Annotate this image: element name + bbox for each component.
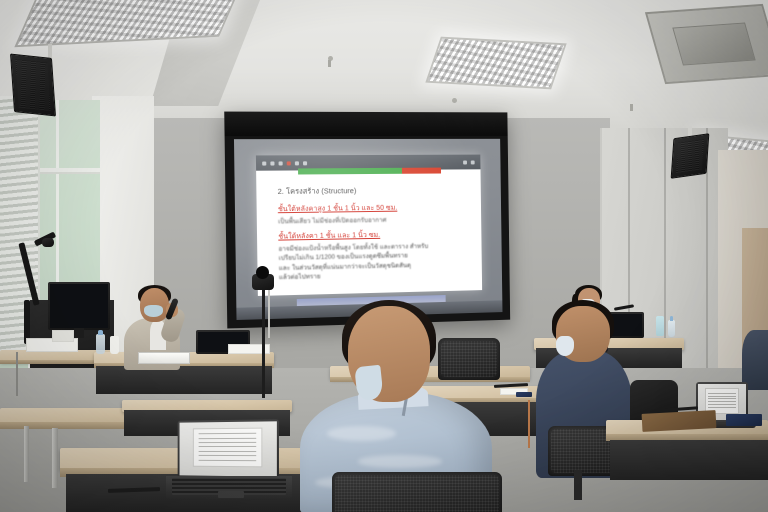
equipment-box	[52, 330, 74, 342]
laptop[interactable]	[172, 420, 292, 502]
ceiling-speaker-icon	[671, 133, 710, 179]
zoom-meeting-window: 2. โครงสร้าง (Structure) ชั้นใต้หลังคาสู…	[256, 154, 481, 295]
partial-person-right	[742, 330, 768, 390]
desk-leg	[52, 428, 58, 488]
chat-icon[interactable]	[303, 161, 307, 165]
desk-modesty-panel	[610, 440, 768, 480]
office-chair[interactable]	[438, 338, 500, 380]
tripod-pole	[262, 288, 265, 398]
stop-share-button[interactable]	[401, 168, 441, 174]
share-screen-icon[interactable]	[295, 161, 299, 165]
camera-lens-icon	[256, 266, 269, 279]
face-mask	[144, 305, 163, 317]
orange-power-cable	[528, 400, 530, 448]
blue-folder[interactable]	[726, 414, 762, 426]
face-mask	[556, 336, 574, 356]
office-chair[interactable]	[332, 472, 502, 512]
paper-cup[interactable]	[110, 336, 119, 354]
mic-icon[interactable]	[263, 161, 267, 165]
presenter-desk-panel	[96, 366, 272, 394]
screen-sharing-status-bar	[298, 168, 402, 175]
folder[interactable]	[516, 392, 532, 397]
water-bottle[interactable]	[96, 334, 105, 354]
wall-speaker-icon	[10, 53, 56, 116]
participants-icon[interactable]	[279, 161, 283, 165]
cable	[16, 352, 18, 396]
slide-red-line-2: ชั้นใต้หลังคา 1 ชั้น และ 1 นิ้ว ซม.	[278, 228, 464, 242]
ceiling-fixture-dot	[452, 98, 457, 103]
name-plate	[138, 352, 190, 364]
reactions-icon[interactable]	[463, 160, 467, 164]
presenter-monitor	[48, 282, 110, 330]
slide-heading: 2. โครงสร้าง (Structure)	[278, 185, 464, 198]
video-icon[interactable]	[271, 161, 275, 165]
sprinkler-icon	[630, 104, 633, 111]
boom-camera-head-icon	[42, 238, 54, 247]
water-bottle[interactable]	[668, 320, 675, 337]
screen-surface: 2. โครงสร้าง (Structure) ชั้นใต้หลังคาสู…	[234, 139, 503, 320]
presentation-slide: 2. โครงสร้าง (Structure) ชั้นใต้หลังคาสู…	[261, 176, 477, 293]
chair-post	[574, 470, 582, 500]
record-icon[interactable]	[287, 161, 291, 165]
desk-leg	[24, 426, 29, 482]
slide-red-line-1: ชั้นใต้หลังคาสูง 1 ชั้น 1 นิ้ว และ 50 ซม…	[278, 202, 464, 215]
sprinkler-icon	[328, 60, 331, 67]
slide-body-line-1: เป็นพื้นเสียว ไม่มีช่องที่เปิดออกรับอากา…	[278, 215, 464, 227]
more-options-icon[interactable]	[470, 160, 474, 164]
camera-cable	[268, 290, 270, 338]
ceiling-air-vent-icon	[645, 4, 768, 84]
screen-valance	[224, 112, 507, 137]
ceiling-light-panel-center	[425, 37, 566, 90]
hand-sanitizer-bottle[interactable]	[656, 316, 664, 336]
classroom-photo: 2. โครงสร้าง (Structure) ชั้นใต้หลังคาสู…	[0, 0, 768, 512]
